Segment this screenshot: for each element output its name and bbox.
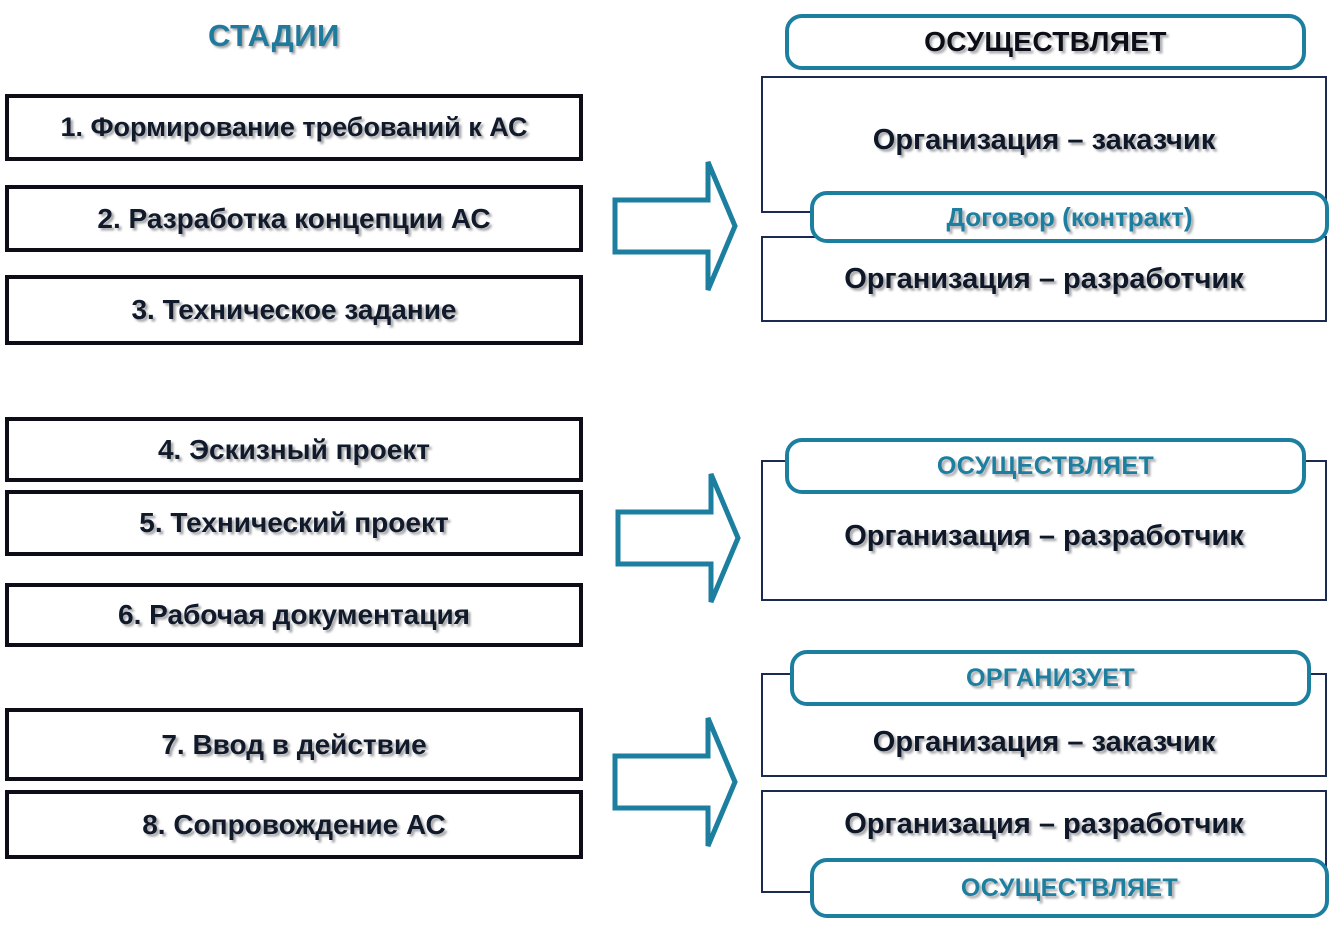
group3-banner-top-label: ОРГАНИЗУЕТ xyxy=(966,664,1135,693)
stage-box-2[interactable]: 2. Разработка концепции АС xyxy=(5,185,583,252)
group2-banner-top[interactable]: ОСУЩЕСТВЛЯЕТ xyxy=(785,438,1306,494)
group3-banner-bottom-label: ОСУЩЕСТВЛЯЕТ xyxy=(961,874,1178,903)
group1-role-developer: Организация – разработчик xyxy=(761,255,1327,303)
stage-box-5[interactable]: 5. Технический проект xyxy=(5,490,583,556)
group1-role-customer: Организация – заказчик xyxy=(761,115,1327,165)
stage-label-4: 4. Эскизный проект xyxy=(158,435,430,464)
right-arrow-icon-1 xyxy=(610,158,740,294)
group2-role-developer: Организация – разработчик xyxy=(761,512,1327,560)
group1-banner-top-label: ОСУЩЕСТВЛЯЕТ xyxy=(924,26,1167,58)
stage-box-1[interactable]: 1. Формирование требований к АС xyxy=(5,94,583,161)
group2-banner-top-label: ОСУЩЕСТВЛЯЕТ xyxy=(937,452,1154,481)
stage-box-8[interactable]: 8. Сопровождение АС xyxy=(5,790,583,859)
stage-box-7[interactable]: 7. Ввод в действие xyxy=(5,708,583,781)
group3-role-customer: Организация – заказчик xyxy=(761,718,1327,766)
stage-label-7: 7. Ввод в действие xyxy=(161,730,426,759)
stage-label-3: 3. Техническое задание xyxy=(131,295,456,324)
stage-box-3[interactable]: 3. Техническое задание xyxy=(5,275,583,345)
right-arrow-icon-2 xyxy=(613,470,743,606)
group1-banner-contract[interactable]: Договор (контракт) xyxy=(810,191,1329,243)
stage-label-2: 2. Разработка концепции АС xyxy=(97,204,490,233)
stage-label-8: 8. Сопровождение АС xyxy=(142,810,446,839)
stage-box-6[interactable]: 6. Рабочая документация xyxy=(5,583,583,647)
stage-box-4[interactable]: 4. Эскизный проект xyxy=(5,417,583,482)
stage-label-1: 1. Формирование требований к АС xyxy=(60,113,527,141)
stage-label-5: 5. Технический проект xyxy=(139,508,448,537)
group3-banner-top[interactable]: ОРГАНИЗУЕТ xyxy=(790,650,1311,706)
right-arrow-icon-3 xyxy=(610,714,740,850)
diagram-canvas: СТАДИИ 1. Формирование требований к АС 2… xyxy=(0,0,1339,941)
group3-banner-bottom[interactable]: ОСУЩЕСТВЛЯЕТ xyxy=(810,858,1329,918)
group1-banner-top[interactable]: ОСУЩЕСТВЛЯЕТ xyxy=(785,14,1306,70)
stage-label-6: 6. Рабочая документация xyxy=(118,600,470,629)
page-title: СТАДИИ xyxy=(208,18,340,54)
group3-role-developer: Организация – разработчик xyxy=(761,800,1327,848)
group1-banner-contract-label: Договор (контракт) xyxy=(946,202,1192,233)
